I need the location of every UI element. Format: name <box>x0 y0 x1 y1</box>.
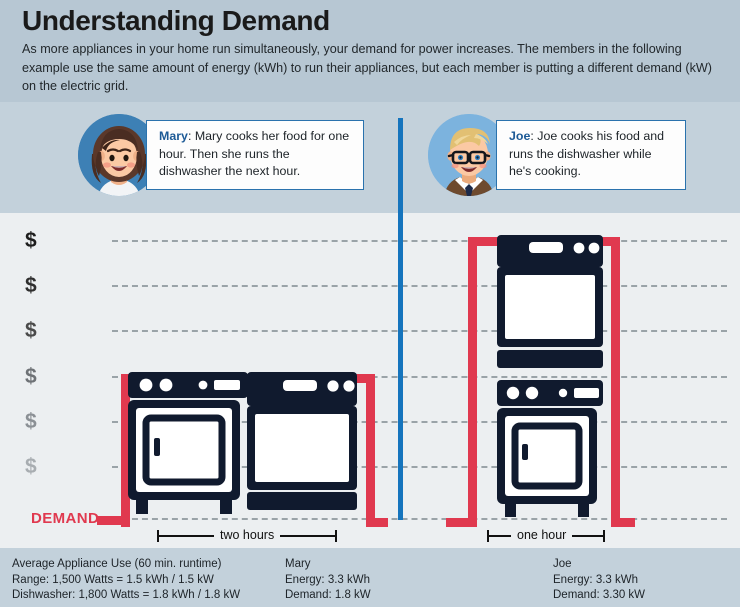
person-mary: Mary: Mary cooks her food for one hour. … <box>70 102 380 213</box>
speech-bubble-joe: Joe: Joe cooks his food and runs the dis… <box>496 120 686 190</box>
footer-band: Average Appliance Use (60 min. runtime) … <box>0 548 740 607</box>
footer-joe-name: Joe <box>553 557 645 573</box>
persons-band: Mary: Mary cooks her food for one hour. … <box>0 102 740 213</box>
appliance-dishwasher-mary <box>126 370 250 518</box>
appliance-range-joe <box>495 233 605 373</box>
y-tick-1: $ <box>25 456 37 477</box>
gridline-5 <box>112 285 727 287</box>
gridline-6 <box>112 240 727 242</box>
bar-joe-left-riser <box>468 237 477 527</box>
y-tick-3: $ <box>25 366 37 387</box>
footer-appliance-line1: Average Appliance Use (60 min. runtime) <box>12 557 240 573</box>
footer-appliance-column: Average Appliance Use (60 min. runtime) … <box>12 557 240 604</box>
footer-mary-column: Mary Energy: 3.3 kWh Demand: 1.8 kW <box>285 557 371 604</box>
person-name-mary: Mary <box>159 129 188 143</box>
bar-joe-right-riser <box>611 237 620 527</box>
footer-mary-name: Mary <box>285 557 371 573</box>
infographic-root: Understanding Demand As more appliances … <box>0 0 740 607</box>
demand-axis-stub <box>97 516 127 525</box>
demand-axis-label: DEMAND <box>31 510 99 527</box>
bracket-cap-right-mary <box>335 530 337 542</box>
appliance-dishwasher-joe <box>495 378 605 520</box>
footer-appliance-line3: Dishwasher: 1,800 Watts = 1.8 kWh / 1.8 … <box>12 588 240 604</box>
page-title: Understanding Demand <box>22 4 722 38</box>
speech-bubble-mary: Mary: Mary cooks her food for one hour. … <box>146 120 364 190</box>
footer-joe-demand: Demand: 3.30 kW <box>553 588 645 604</box>
bracket-cap-right-joe <box>603 530 605 542</box>
duration-bracket-mary: two hours <box>157 527 337 545</box>
scenario-divider <box>398 118 403 520</box>
bar-joe-left-foot <box>446 518 470 527</box>
footer-joe-energy: Energy: 3.3 kWh <box>553 573 645 589</box>
bubble-text-mary: Mary: Mary cooks her food for one hour. … <box>159 128 353 181</box>
footer-mary-demand: Demand: 1.8 kW <box>285 588 371 604</box>
footer-mary-energy: Energy: 3.3 kWh <box>285 573 371 589</box>
duration-label-mary: two hours <box>214 527 280 544</box>
duration-label-joe: one hour <box>511 527 572 544</box>
person-joe: Joe: Joe cooks his food and runs the dis… <box>420 102 720 213</box>
person-name-joe: Joe <box>509 129 530 143</box>
demand-chart: $ $ $ $ $ $ <box>0 213 740 548</box>
bar-mary-right-foot <box>366 518 388 527</box>
y-tick-6: $ <box>25 230 37 251</box>
appliance-range-mary <box>245 370 361 518</box>
header-band: Understanding Demand As more appliances … <box>0 0 740 102</box>
footer-appliance-line2: Range: 1,500 Watts = 1.5 kWh / 1.5 kW <box>12 573 240 589</box>
colon-mary: : <box>188 129 195 143</box>
y-tick-5: $ <box>25 275 37 296</box>
bar-joe-right-foot <box>611 518 635 527</box>
gridline-4 <box>112 330 727 332</box>
duration-bracket-joe: one hour <box>487 527 605 545</box>
bar-mary-right-riser <box>366 374 375 527</box>
header-content: Understanding Demand As more appliances … <box>22 4 722 96</box>
y-tick-4: $ <box>25 320 37 341</box>
page-subtitle: As more appliances in your home run simu… <box>22 40 722 96</box>
footer-joe-column: Joe Energy: 3.3 kWh Demand: 3.30 kW <box>553 557 645 604</box>
y-tick-2: $ <box>25 411 37 432</box>
bubble-text-joe: Joe: Joe cooks his food and runs the dis… <box>509 128 675 181</box>
